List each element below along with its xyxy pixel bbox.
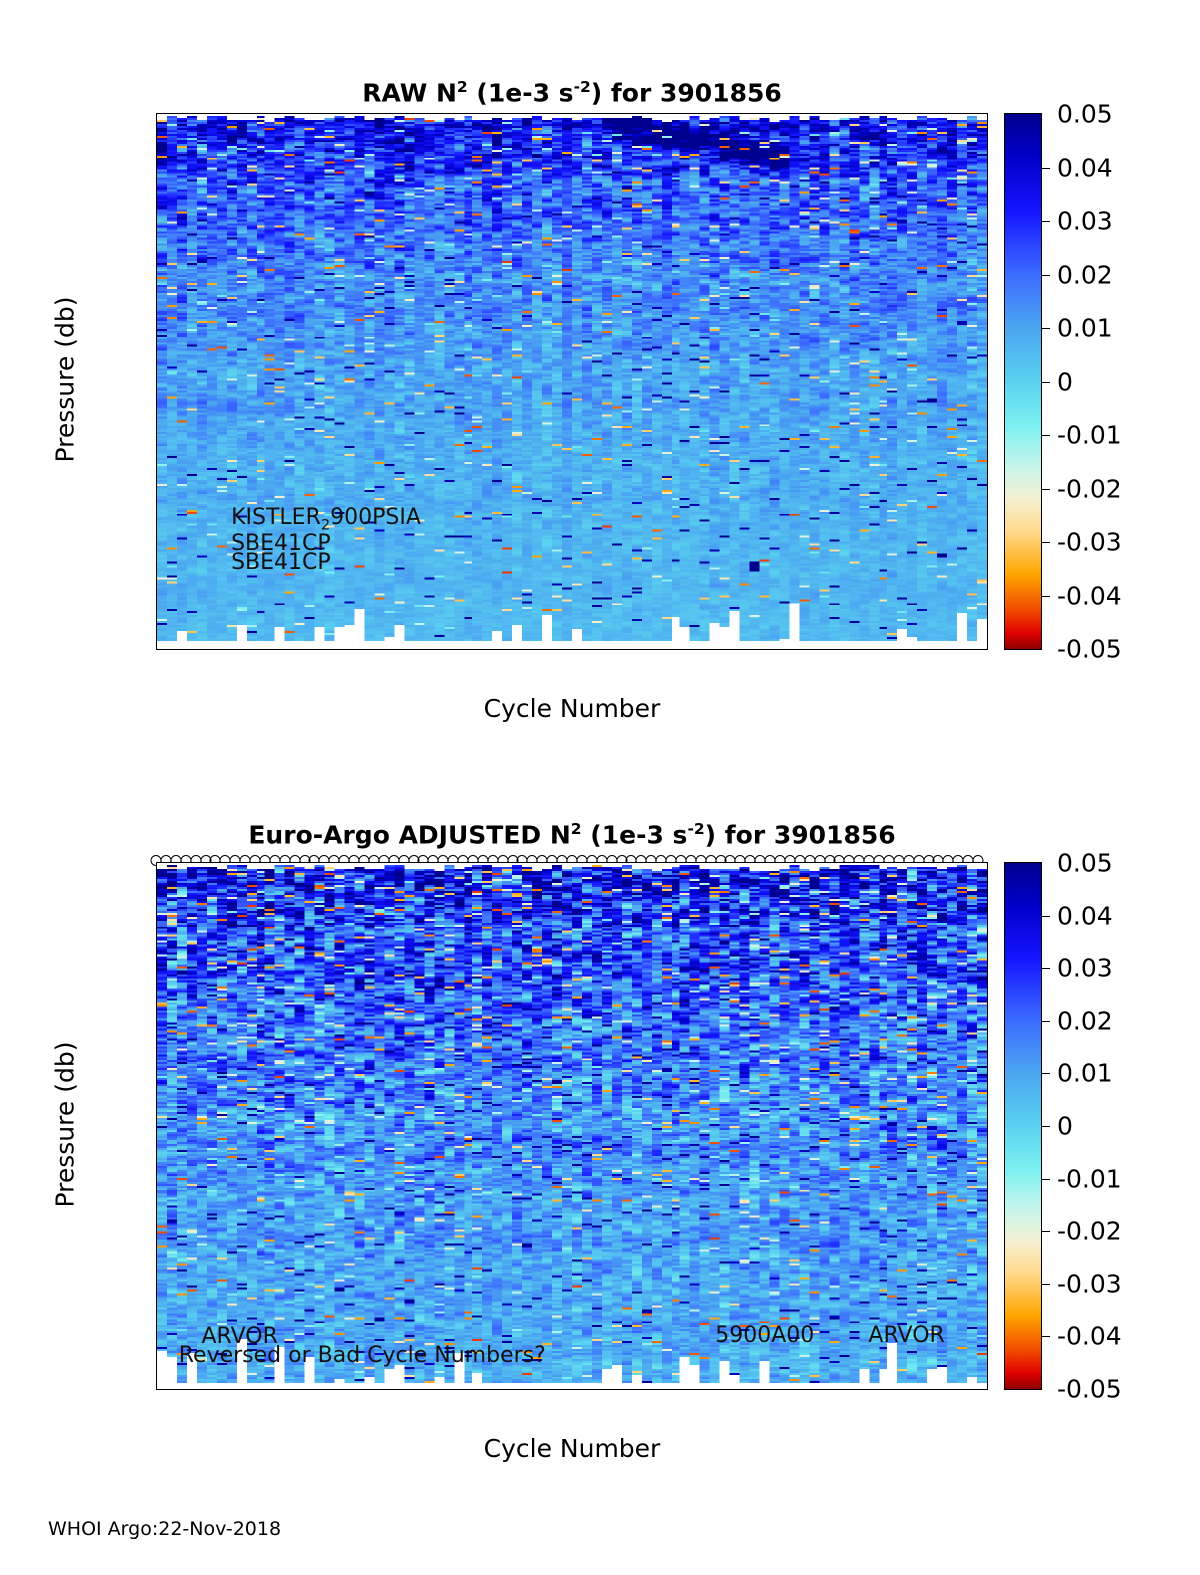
colorbar-tick-0.04 [1041, 916, 1050, 917]
colorbar-label--0.02: -0.02 [1057, 474, 1122, 503]
y-minor-tick-500 [156, 244, 157, 245]
x-tick-20 [345, 649, 346, 650]
y-tick-1000 [156, 374, 157, 375]
y-tick-600 [156, 1016, 157, 1017]
colorbar-label--0.05: -0.05 [1057, 1375, 1122, 1404]
y-tick-1600 [156, 530, 157, 531]
y-tick-200 [156, 914, 157, 915]
panel-raw-xaxis-label: Cycle Number [156, 694, 988, 723]
y-minor-tick-300 [156, 192, 157, 193]
panel-adjusted-title-sup1: 2 [571, 820, 582, 838]
x-minor-tick-85 [987, 1389, 988, 1390]
panel-raw-yaxis-label: Pressure (db) [51, 255, 80, 505]
x-minor-tick-35 [493, 649, 494, 650]
y-tick-600 [156, 270, 157, 271]
panel-adjusted-axes[interactable]: 2004006008001000120014001600180020001020… [156, 862, 988, 1390]
panel-adjusted-xaxis-label: Cycle Number [156, 1434, 988, 1463]
x-tick-40 [542, 1389, 543, 1390]
panel-raw-title-sup2: -2 [574, 78, 591, 96]
y-minor-tick-1300 [156, 452, 157, 453]
x-tick-10 [246, 1389, 247, 1390]
colorbar-tick--0.02 [1041, 489, 1050, 490]
colorbar-label-0.02: 0.02 [1057, 1006, 1113, 1035]
panel-adjusted-heatmap [157, 863, 987, 1389]
cycle-warning: Reversed or Bad Cycle Numbers? [179, 1343, 546, 1368]
x-tick-40 [542, 649, 543, 650]
colorbar-tick-0.01 [1041, 1073, 1050, 1074]
colorbar-tick-0.02 [1041, 1021, 1050, 1022]
sensor-kistler-text2: 900PSIA [330, 505, 421, 530]
colorbar-tick-0.02 [1041, 275, 1050, 276]
colorbar-label-0.01: 0.01 [1057, 1059, 1113, 1088]
panel-adjusted-title: Euro-Argo ADJUSTED N2 (1e-3 s-2) for 390… [156, 820, 988, 849]
y-tick-1600 [156, 1272, 157, 1273]
y-tick-400 [156, 965, 157, 966]
colorbar-label-0.04: 0.04 [1057, 153, 1113, 182]
y-minor-tick-500 [156, 991, 157, 992]
x-minor-tick-85 [987, 649, 988, 650]
x-minor-tick-75 [888, 649, 889, 650]
y-tick-800 [156, 1067, 157, 1068]
colorbar-tick--0.03 [1041, 542, 1050, 543]
cycle-warning-text: Reversed or Bad Cycle Numbers? [179, 1343, 546, 1368]
y-tick-1800 [156, 581, 157, 582]
colorbar-tick-0.01 [1041, 328, 1050, 329]
colorbar-raw: 0.050.040.030.020.010-0.01-0.02-0.03-0.0… [1004, 113, 1042, 650]
panel-adjusted-yaxis-label: Pressure (db) [51, 1000, 80, 1250]
x-minor-tick-15 [295, 649, 296, 650]
panel-raw-title-sup1: 2 [457, 78, 468, 96]
colorbar-label--0.04: -0.04 [1057, 1322, 1122, 1351]
y-minor-tick-100 [156, 140, 157, 141]
y-tick-1000 [156, 1118, 157, 1119]
colorbar-tick--0.02 [1041, 1231, 1050, 1232]
x-tick-20 [345, 1389, 346, 1390]
colorbar-label-0.01: 0.01 [1057, 314, 1113, 343]
y-minor-tick-1900 [156, 1348, 157, 1349]
y-tick-1400 [156, 1220, 157, 1221]
panel-raw-title-prefix: RAW N [362, 78, 457, 107]
colorbar-tick-0.04 [1041, 168, 1050, 169]
x-tick-50 [641, 649, 642, 650]
x-tick-70 [839, 1389, 840, 1390]
sensor-sbe41cp-2: SBE41CP [231, 550, 331, 575]
colorbar-label--0.02: -0.02 [1057, 1217, 1122, 1246]
y-tick-2000 [156, 1374, 157, 1375]
colorbar-tick--0.01 [1041, 1179, 1050, 1180]
panel-adjusted-title-prefix: Euro-Argo ADJUSTED N [248, 820, 570, 849]
colorbar-label-0.05: 0.05 [1057, 100, 1113, 129]
y-minor-tick-700 [156, 1042, 157, 1043]
float-type-arvor-right: ARVOR [868, 1323, 944, 1348]
x-tick-60 [740, 1389, 741, 1390]
y-minor-tick-300 [156, 940, 157, 941]
panel-adjusted-title-mid: (1e-3 s [582, 820, 688, 849]
colorbar-label-0.03: 0.03 [1057, 954, 1113, 983]
x-minor-tick-5 [197, 1389, 198, 1390]
colorbar-tick-0.03 [1041, 221, 1050, 222]
panel-raw-axes[interactable]: 2004006008001000120014001600180020001020… [156, 113, 988, 650]
panel-raw-title-mid: (1e-3 s [468, 78, 574, 107]
y-tick-2000 [156, 633, 157, 634]
x-minor-tick-15 [295, 1389, 296, 1390]
y-minor-tick-1700 [156, 1297, 157, 1298]
y-minor-tick-900 [156, 1093, 157, 1094]
colorbar-adjusted: 0.050.040.030.020.010-0.01-0.02-0.03-0.0… [1004, 862, 1042, 1390]
x-tick-30 [444, 1389, 445, 1390]
sensor-5900a00-text: 5900A00 [715, 1323, 814, 1348]
colorbar-tick-0.03 [1041, 968, 1050, 969]
x-minor-tick-5 [197, 649, 198, 650]
x-tick-60 [740, 649, 741, 650]
x-tick-50 [641, 1389, 642, 1390]
colorbar-label--0.03: -0.03 [1057, 1269, 1122, 1298]
colorbar-label-0: 0 [1057, 1112, 1073, 1141]
y-tick-400 [156, 218, 157, 219]
x-minor-tick-75 [888, 1389, 889, 1390]
y-tick-1400 [156, 478, 157, 479]
x-tick-30 [444, 649, 445, 650]
y-tick-1200 [156, 1169, 157, 1170]
colorbar-tick--0.04 [1041, 1336, 1050, 1337]
x-tick-80 [938, 649, 939, 650]
y-minor-tick-1300 [156, 1195, 157, 1196]
colorbar-raw-gradient [1005, 114, 1041, 649]
colorbar-label--0.03: -0.03 [1057, 528, 1122, 557]
colorbar-label-0.03: 0.03 [1057, 207, 1113, 236]
colorbar-tick-0 [1041, 1126, 1050, 1127]
y-tick-200 [156, 166, 157, 167]
colorbar-label--0.04: -0.04 [1057, 581, 1122, 610]
colorbar-tick--0.01 [1041, 435, 1050, 436]
colorbar-tick-0 [1041, 382, 1050, 383]
x-minor-tick-25 [394, 1389, 395, 1390]
sensor-kistler-text: KISTLER [231, 505, 321, 530]
colorbar-label-0.05: 0.05 [1057, 849, 1113, 878]
colorbar-label-0: 0 [1057, 367, 1073, 396]
panel-raw-title-suffix: ) for 3901856 [591, 78, 782, 107]
colorbar-label-0.02: 0.02 [1057, 260, 1113, 289]
x-tick-80 [938, 1389, 939, 1390]
panel-adjusted-title-sup2: -2 [687, 820, 704, 838]
panel-adjusted-title-suffix: ) for 3901856 [705, 820, 896, 849]
y-minor-tick-700 [156, 296, 157, 297]
y-minor-tick-1500 [156, 1246, 157, 1247]
x-minor-tick-55 [691, 649, 692, 650]
y-minor-tick-1500 [156, 504, 157, 505]
colorbar-tick--0.04 [1041, 596, 1050, 597]
y-minor-tick-1100 [156, 400, 157, 401]
panel-raw-title: RAW N2 (1e-3 s-2) for 3901856 [156, 78, 988, 107]
x-minor-tick-65 [789, 1389, 790, 1390]
y-tick-1800 [156, 1323, 157, 1324]
colorbar-label-0.04: 0.04 [1057, 901, 1113, 930]
x-minor-tick-55 [691, 1389, 692, 1390]
y-minor-tick-1100 [156, 1144, 157, 1145]
x-minor-tick-35 [493, 1389, 494, 1390]
x-minor-tick-45 [592, 649, 593, 650]
sensor-kistler: KISTLER2900PSIA [231, 505, 421, 533]
x-tick-70 [839, 649, 840, 650]
y-minor-tick-900 [156, 348, 157, 349]
colorbar-label--0.01: -0.01 [1057, 421, 1122, 450]
colorbar-tick--0.03 [1041, 1284, 1050, 1285]
sensor-sbe41cp-2-text: SBE41CP [231, 550, 331, 575]
colorbar-label--0.01: -0.01 [1057, 1164, 1122, 1193]
x-minor-tick-65 [789, 649, 790, 650]
y-tick-1200 [156, 426, 157, 427]
x-minor-tick-45 [592, 1389, 593, 1390]
footer-credit: WHOI Argo:22-Nov-2018 [48, 1518, 281, 1540]
y-minor-tick-1900 [156, 607, 157, 608]
float-type-arvor-right-text: ARVOR [868, 1323, 944, 1348]
x-minor-tick-25 [394, 649, 395, 650]
colorbar-label--0.05: -0.05 [1057, 635, 1122, 664]
x-tick-10 [246, 649, 247, 650]
y-minor-tick-1700 [156, 556, 157, 557]
sensor-5900a00: 5900A00 [715, 1323, 814, 1348]
y-minor-tick-100 [156, 889, 157, 890]
colorbar-adjusted-gradient [1005, 863, 1041, 1389]
y-tick-800 [156, 322, 157, 323]
